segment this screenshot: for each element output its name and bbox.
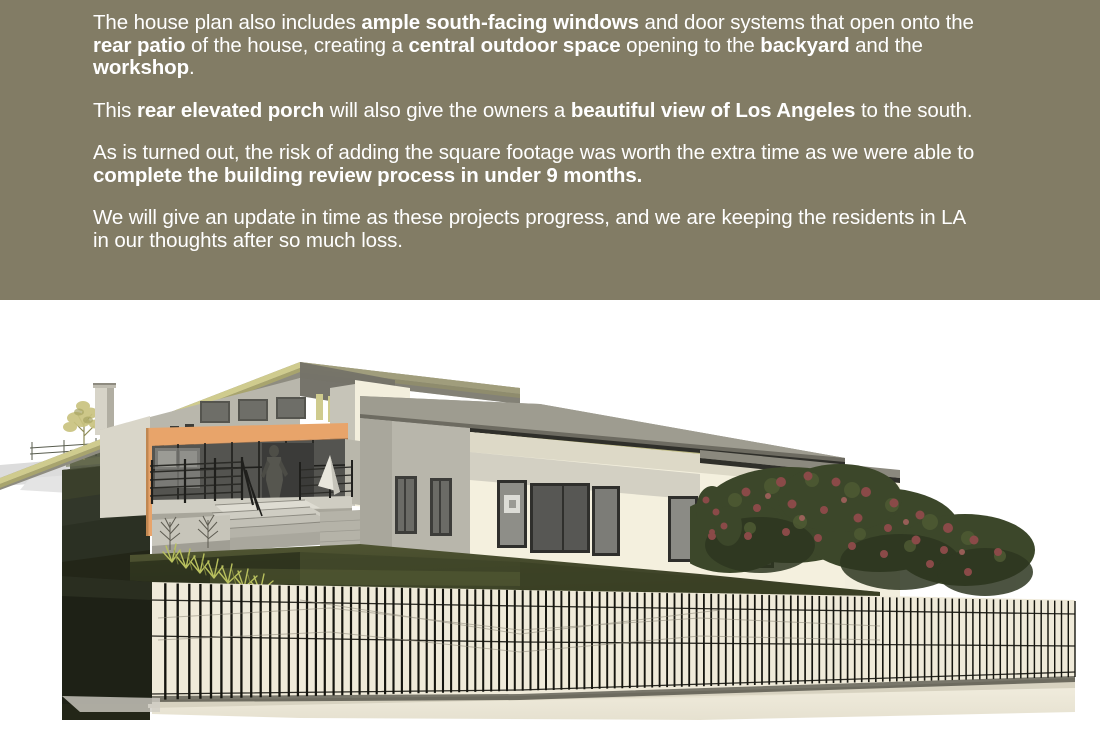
- page-root: The house plan also includes ample south…: [0, 0, 1100, 733]
- window-group-1: [497, 480, 620, 556]
- fence: [150, 582, 1075, 702]
- paragraph-1: The house plan also includes ample south…: [93, 12, 980, 80]
- paragraph-3: As is turned out, the risk of adding the…: [93, 142, 980, 187]
- paragraph-2: This rear elevated porch will also give …: [93, 100, 980, 123]
- article-text-panel: The house plan also includes ample south…: [0, 0, 1100, 300]
- rendering-canvas: [0, 300, 1100, 733]
- paragraph-4: We will give an update in time as these …: [93, 207, 980, 252]
- architectural-rendering: [0, 300, 1100, 733]
